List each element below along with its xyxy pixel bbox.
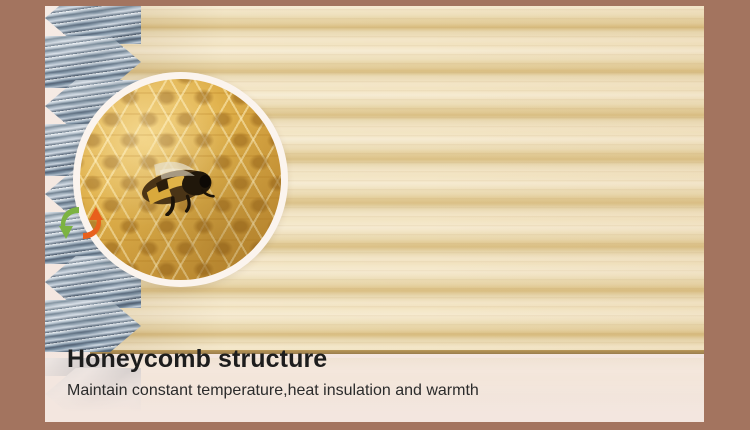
recycle-arrow-green-head-icon bbox=[59, 226, 73, 239]
product-banner: Honeycomb structure Maintain constant te… bbox=[0, 0, 750, 430]
recycle-arrow-orange-head-icon bbox=[89, 207, 103, 220]
caption: Honeycomb structure Maintain constant te… bbox=[67, 345, 479, 400]
banner-stage: Honeycomb structure Maintain constant te… bbox=[45, 6, 704, 422]
recycle-arrows-logo bbox=[53, 198, 109, 248]
honeycomb-photo-inner bbox=[80, 79, 281, 280]
page-subtitle: Maintain constant temperature,heat insul… bbox=[67, 381, 479, 400]
page-title: Honeycomb structure bbox=[67, 345, 479, 374]
bee-illustration-icon bbox=[132, 155, 224, 215]
honeycomb-bee-photo bbox=[73, 72, 288, 287]
